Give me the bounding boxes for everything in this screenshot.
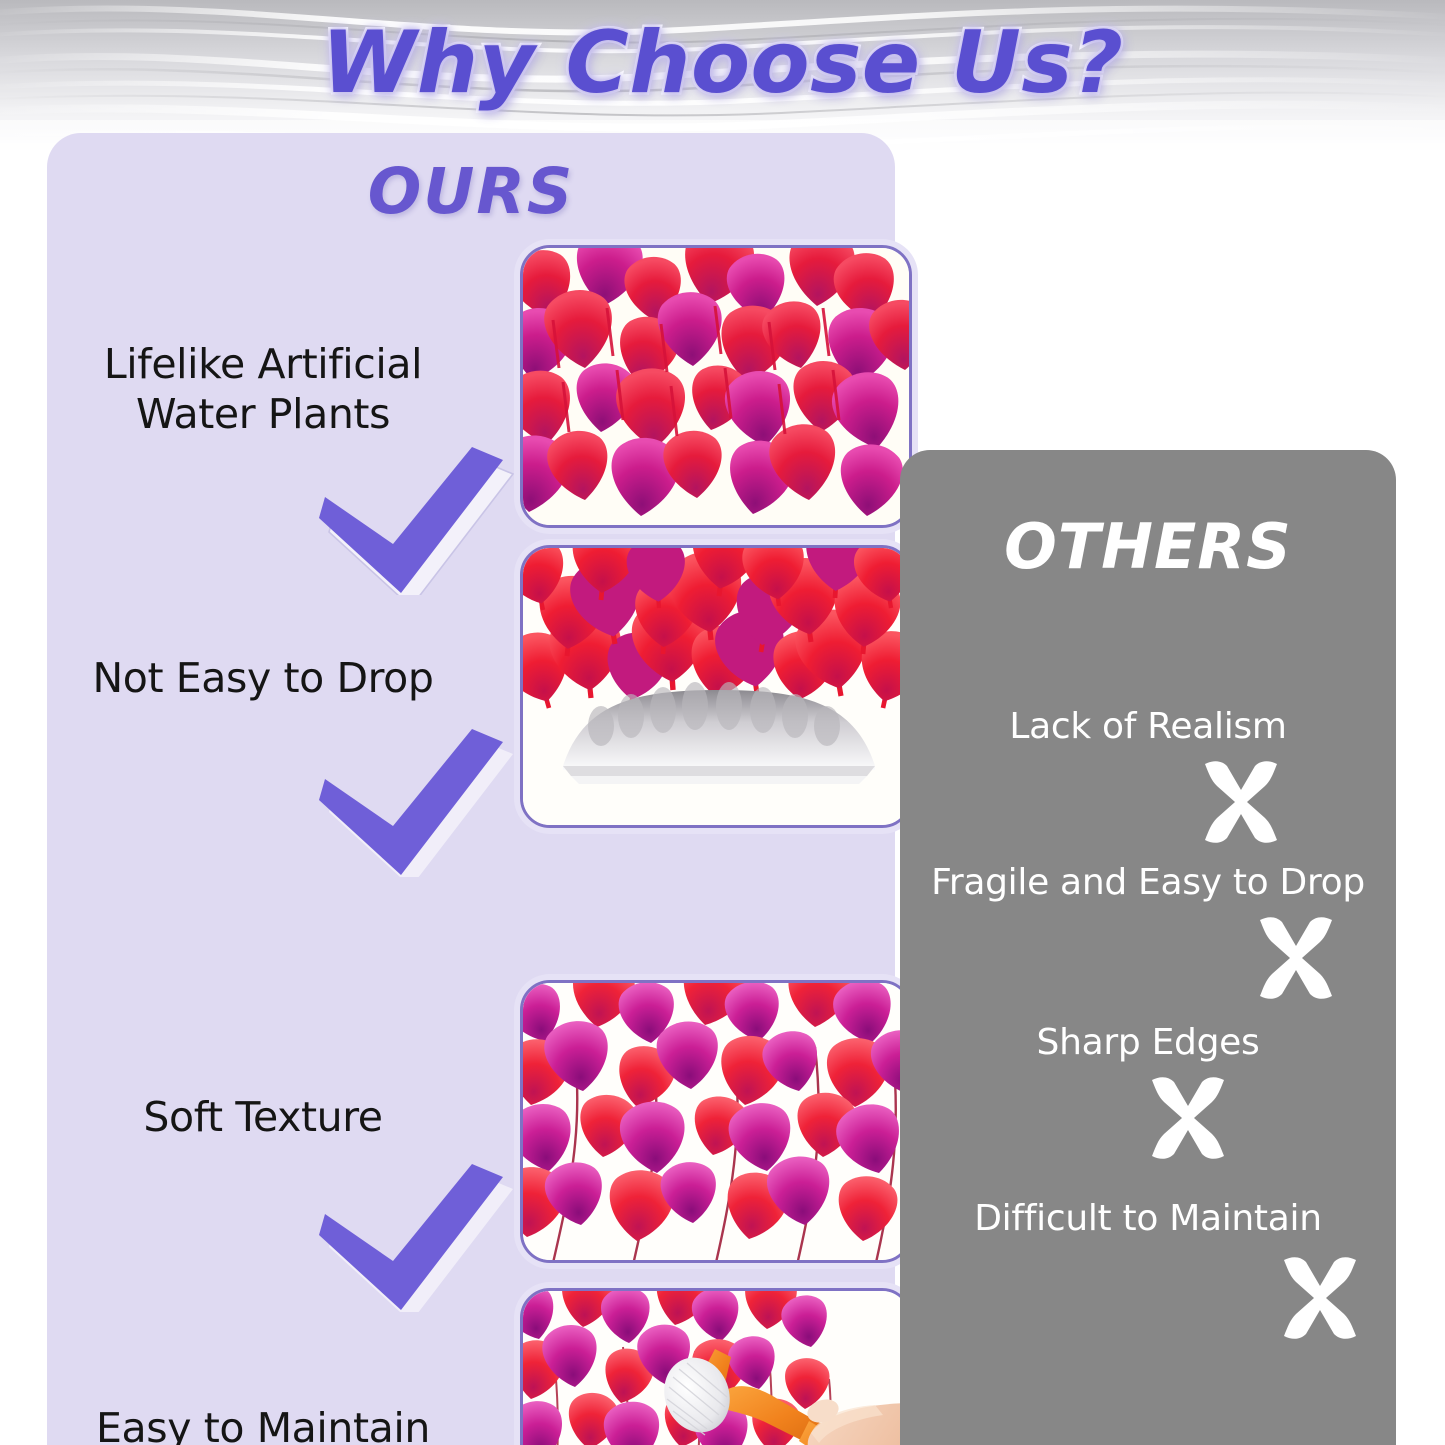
x-icon [1193, 754, 1289, 850]
x-icon [1272, 1250, 1368, 1346]
others-drawback-label: Lack of Realism [900, 706, 1396, 747]
ours-feature-label: Not Easy to Drop [65, 653, 461, 703]
others-panel: OTHERS Lack of Realism Fragile and Easy … [900, 450, 1396, 1445]
ours-feature-row: Soft Texture [47, 850, 895, 1150]
comparison-infographic: Why Choose Us? OURS Lifelike Artificial … [0, 0, 1445, 1445]
ours-feature-label: Easy to Maintain [65, 1403, 461, 1445]
others-heading: OTHERS [900, 510, 1396, 583]
ours-feature-row: Easy to Maintain [47, 1155, 895, 1445]
others-drawback-label: Fragile and Easy to Drop [900, 862, 1396, 903]
ours-feature-photo [520, 1288, 912, 1445]
ours-heading: OURS [47, 155, 895, 228]
x-icon [1140, 1070, 1236, 1166]
ours-feature-row: Lifelike Artificial Water Plants [47, 245, 895, 545]
ours-feature-photo [520, 545, 912, 828]
x-icon [1248, 910, 1344, 1006]
ours-panel: OURS Lifelike Artificial Water Plants [47, 133, 895, 1445]
title-container: Why Choose Us? [0, 8, 1445, 118]
ours-feature-label: Lifelike Artificial Water Plants [65, 339, 461, 439]
ours-feature-row: Not Easy to Drop [47, 545, 895, 845]
ours-feature-photo [520, 245, 912, 528]
page-title: Why Choose Us? [322, 8, 1124, 118]
others-drawback-label: Difficult to Maintain [900, 1198, 1396, 1239]
ours-feature-label: Soft Texture [65, 1092, 461, 1142]
others-drawback-label: Sharp Edges [900, 1022, 1396, 1063]
